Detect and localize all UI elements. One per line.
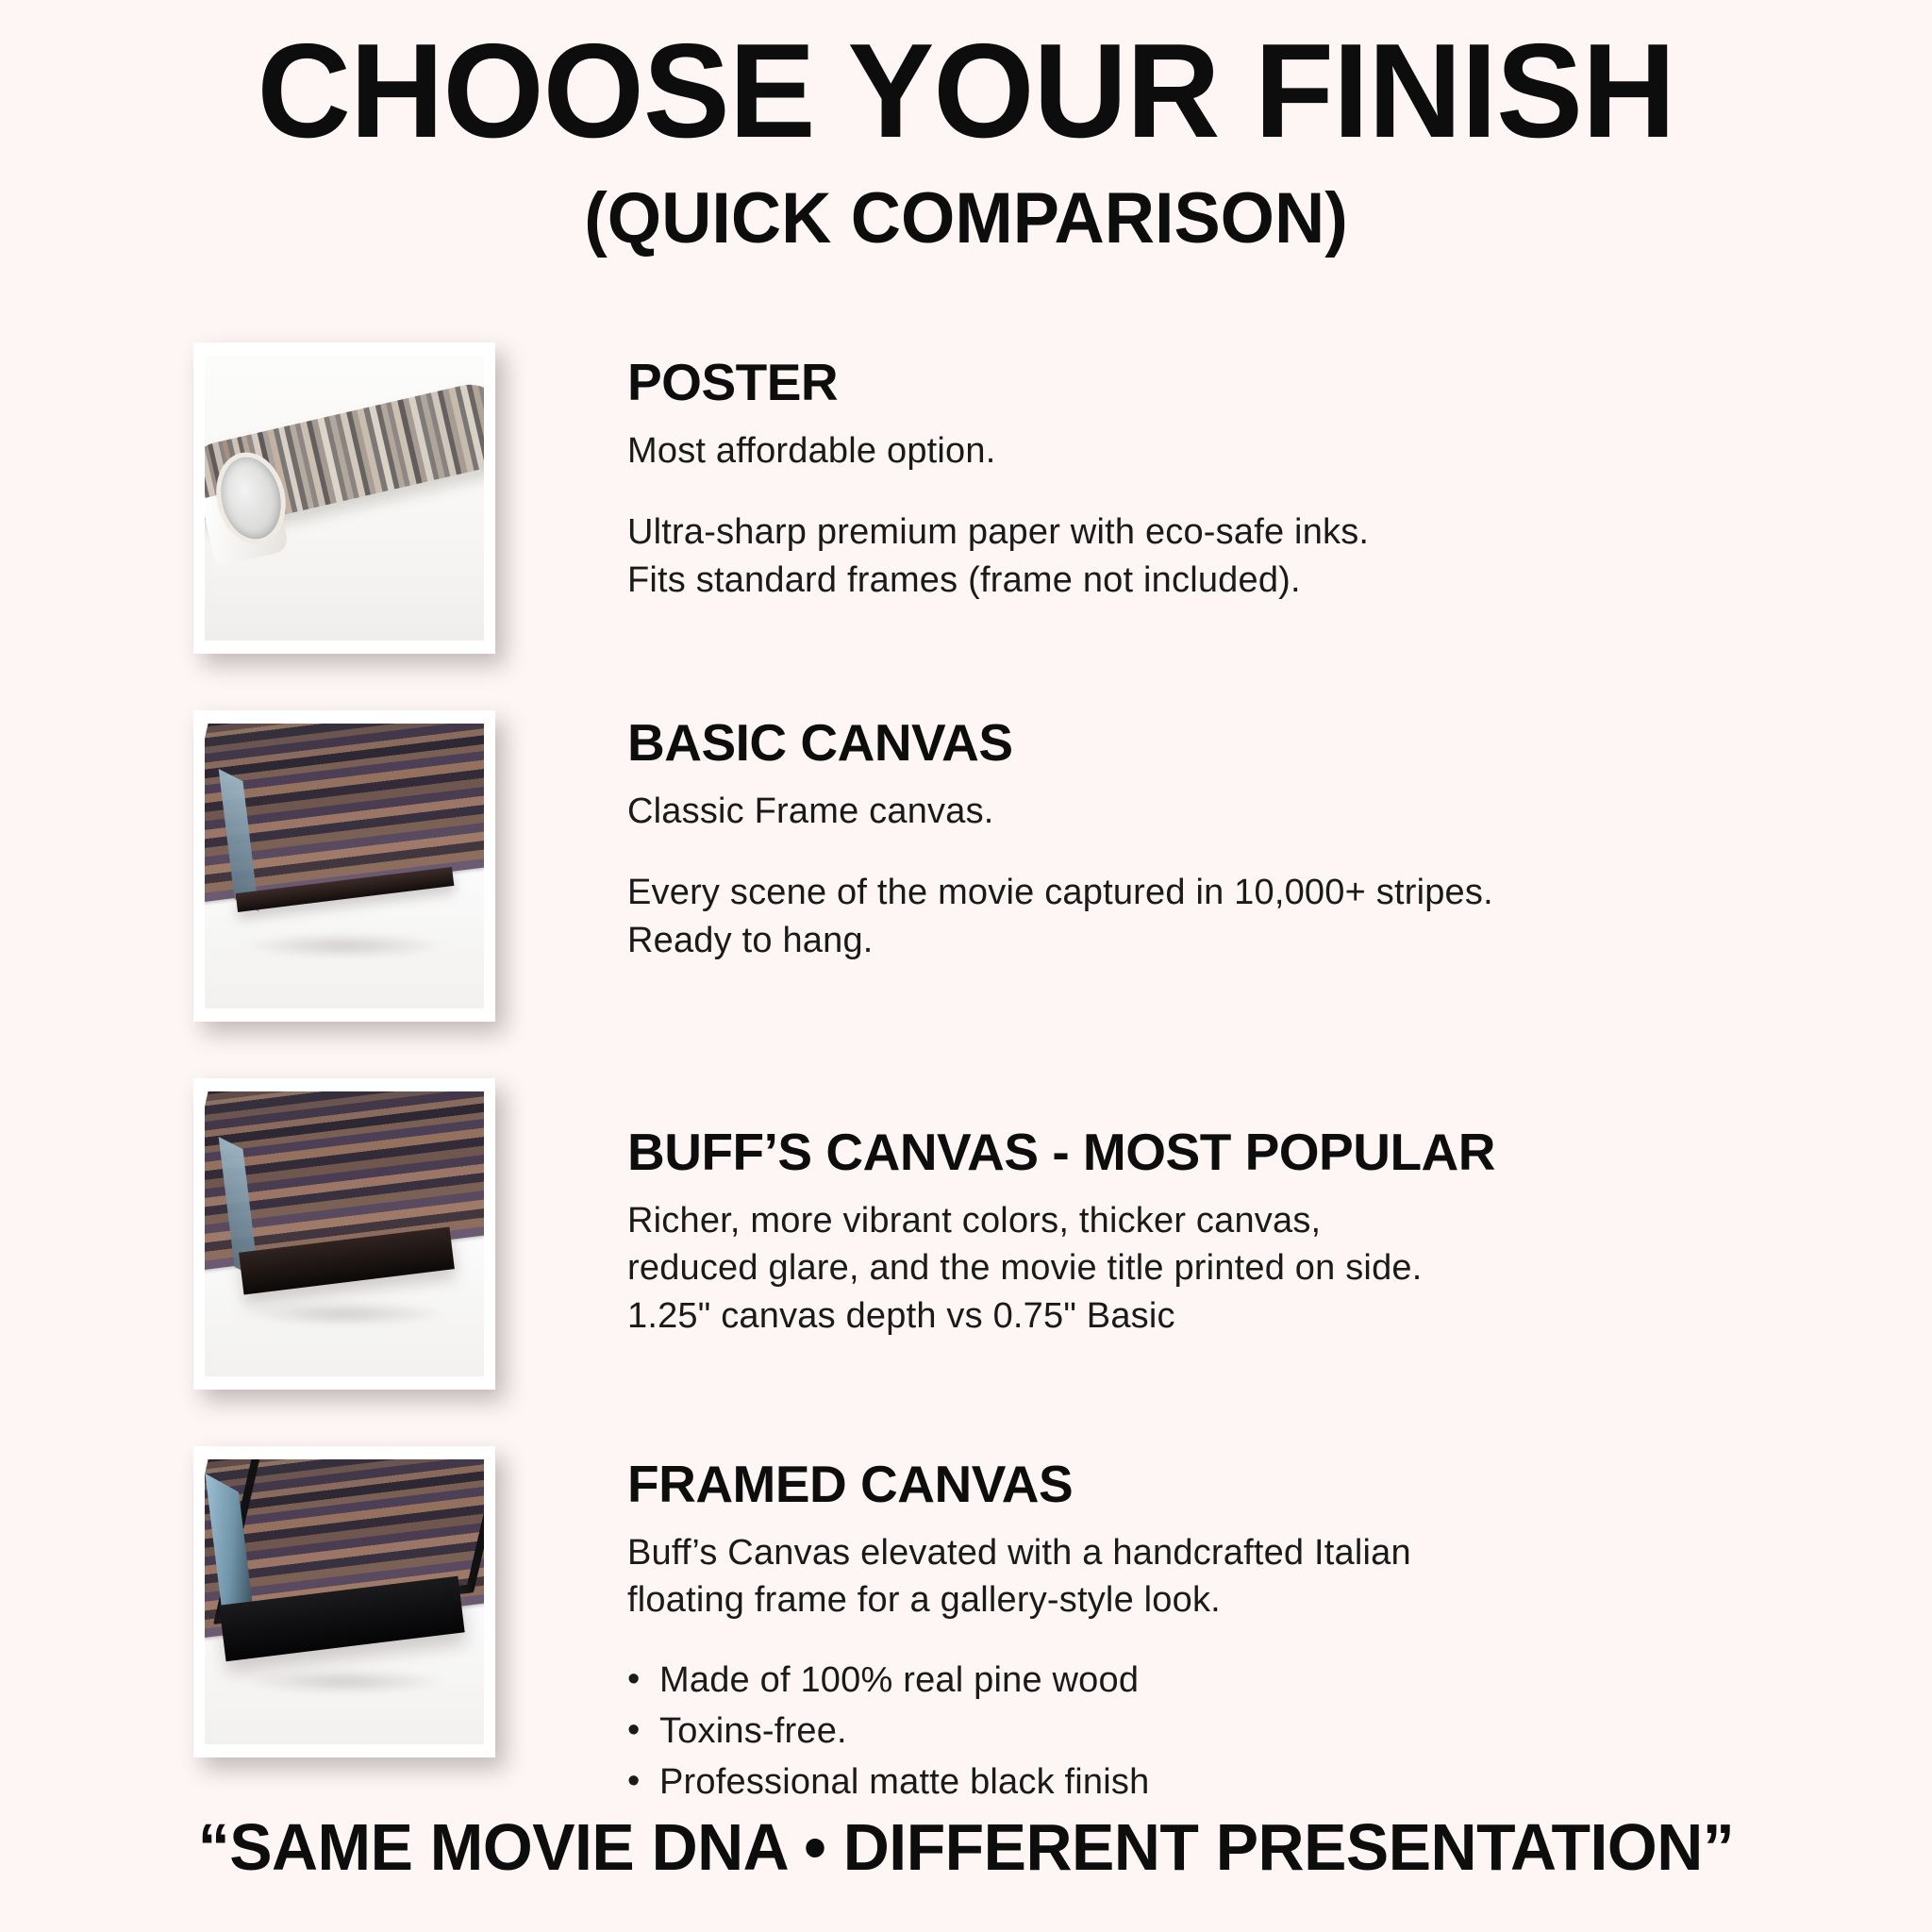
framed-canvas-detail-2: floating frame for a gallery-style look. — [627, 1577, 1788, 1624]
basic-canvas-drop-shadow — [243, 934, 444, 957]
framed-canvas-text-block: FRAMED CANVAS Buff’s Canvas elevated wit… — [627, 1457, 1788, 1808]
framed-canvas-detail-1: Buff’s Canvas elevated with a handcrafte… — [627, 1530, 1788, 1576]
framed-canvas-heading: FRAMED CANVAS — [627, 1457, 1788, 1512]
list-item: Made of 100% real pine wood — [627, 1656, 1788, 1707]
basic-canvas-heading: BASIC CANVAS — [627, 716, 1788, 771]
page-title: CHOOSE YOUR FINISH — [29, 25, 1904, 158]
framed-canvas-photo — [205, 1459, 484, 1744]
poster-text-block: POSTER Most affordable option. Ultra-sha… — [627, 356, 1788, 604]
list-item: Professional matte black finish — [627, 1757, 1788, 1808]
rolled-poster-photo — [205, 356, 484, 641]
list-item: Toxins-free. — [627, 1707, 1788, 1757]
basic-canvas-lead: Classic Frame canvas. — [627, 789, 1788, 835]
poster-lead: Most affordable option. — [627, 428, 1788, 475]
basic-canvas-text-block: BASIC CANVAS Classic Frame canvas. Every… — [627, 716, 1788, 964]
page-footer: “SAME MOVIE DNA • DIFFERENT PRESENTATION… — [0, 1809, 1932, 1885]
poster-detail-2: Fits standard frames (frame not included… — [627, 558, 1788, 604]
buffs-canvas-detail-3: 1.25" canvas depth vs 0.75" Basic — [627, 1293, 1788, 1340]
buffs-canvas-photo — [205, 1091, 484, 1376]
page-header: CHOOSE YOUR FINISH (QUICK COMPARISON) — [0, 0, 1932, 257]
framed-canvas-drop-shadow — [243, 1670, 444, 1692]
buffs-canvas-text-block: BUFF’S CANVAS - MOST POPULAR Richer, mor… — [627, 1125, 1788, 1340]
poster-photo-card[interactable] — [193, 342, 495, 654]
basic-canvas-detail-1: Every scene of the movie captured in 10,… — [627, 870, 1788, 916]
finish-option-basic-canvas[interactable]: BASIC CANVAS Classic Frame canvas. Every… — [0, 703, 1932, 1071]
poster-detail-1: Ultra-sharp premium paper with eco-safe … — [627, 509, 1788, 556]
buffs-canvas-detail-1: Richer, more vibrant colors, thicker can… — [627, 1198, 1788, 1244]
finish-option-poster[interactable]: POSTER Most affordable option. Ultra-sha… — [0, 335, 1932, 703]
buffs-canvas-photo-card[interactable] — [193, 1078, 495, 1390]
buffs-canvas-detail-2: reduced glare, and the movie title print… — [627, 1245, 1788, 1291]
finish-option-buffs-canvas[interactable]: BUFF’S CANVAS - MOST POPULAR Richer, mor… — [0, 1071, 1932, 1439]
footer-tagline: “SAME MOVIE DNA • DIFFERENT PRESENTATION… — [29, 1809, 1904, 1885]
framed-canvas-bullet-list: Made of 100% real pine wood Toxins-free.… — [627, 1656, 1788, 1808]
buffs-canvas-drop-shadow — [243, 1302, 444, 1324]
page-subtitle: (QUICK COMPARISON) — [29, 181, 1904, 257]
poster-heading: POSTER — [627, 356, 1788, 410]
basic-canvas-detail-2: Ready to hang. — [627, 918, 1788, 964]
buffs-canvas-heading: BUFF’S CANVAS - MOST POPULAR — [627, 1125, 1788, 1180]
basic-canvas-photo — [205, 724, 484, 1008]
framed-canvas-photo-card[interactable] — [193, 1446, 495, 1757]
basic-canvas-photo-card[interactable] — [193, 710, 495, 1022]
finish-option-framed-canvas[interactable]: FRAMED CANVAS Buff’s Canvas elevated wit… — [0, 1439, 1932, 1807]
finish-options-list: POSTER Most affordable option. Ultra-sha… — [0, 335, 1932, 1807]
